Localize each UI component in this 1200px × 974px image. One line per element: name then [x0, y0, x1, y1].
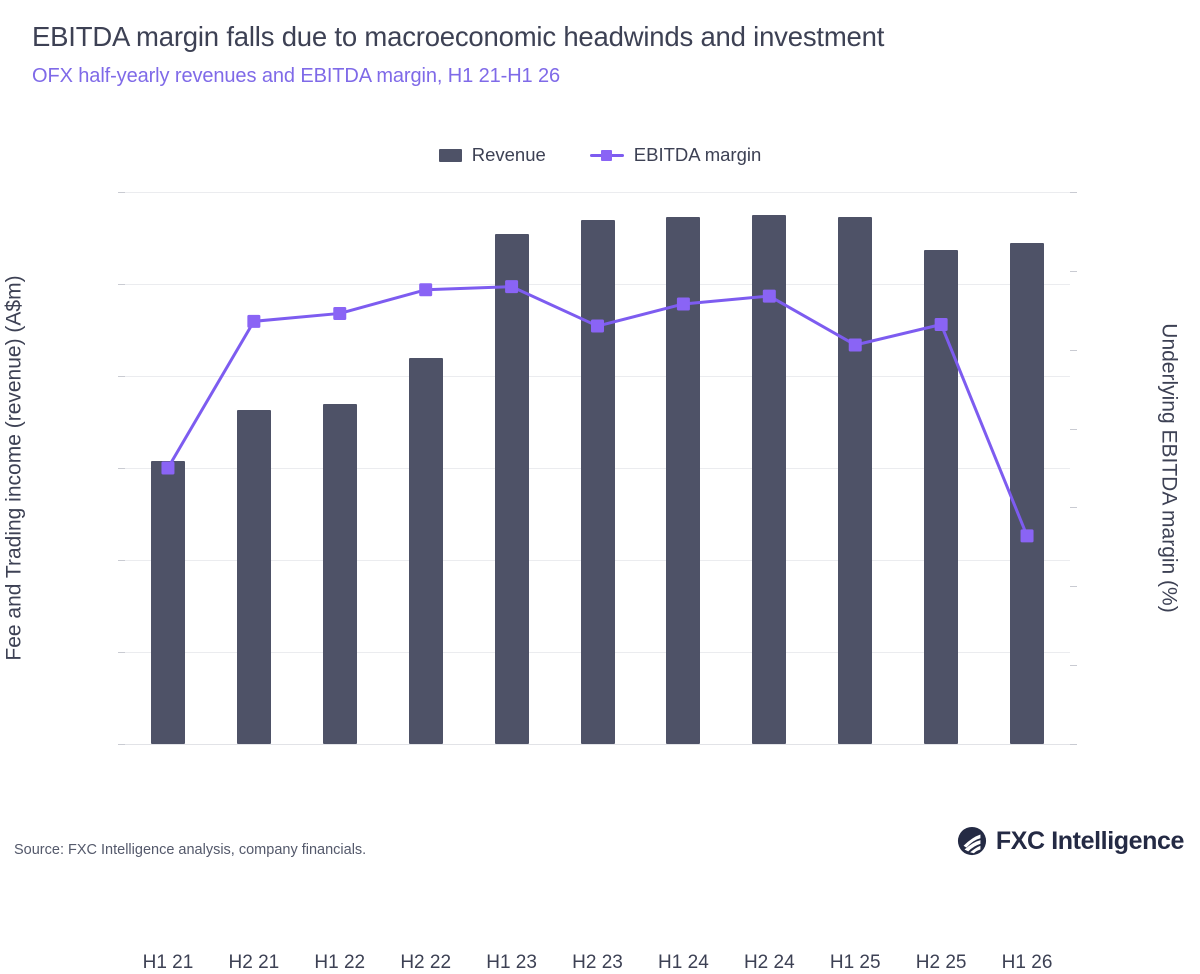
line-series-ebitda-margin: H1 21: 17.5%H2 21: 26.8%H1 22: 27.3%H2 2… [125, 192, 1070, 744]
x-tick-label: H1 25 [830, 952, 881, 974]
chart-legend: RevenueEBITDA margin [0, 144, 1200, 166]
right-tick-mark [1070, 192, 1077, 193]
legend-item-label: Revenue [472, 144, 546, 166]
legend-line-marker-icon [590, 148, 624, 162]
x-tick-label: H2 25 [916, 952, 967, 974]
source-note: Source: FXC Intelligence analysis, compa… [14, 842, 366, 858]
right-axis-title-text: Underlying EBITDA margin (%) [1157, 323, 1181, 612]
x-tick-label: H2 22 [400, 952, 451, 974]
right-tick-mark [1070, 665, 1077, 666]
margin-marker-h2-25[interactable]: H2 25: 26.6% [935, 318, 948, 331]
left-tick-mark [118, 468, 125, 469]
margin-marker-h2-23[interactable]: H2 23: 26.5% [591, 320, 604, 333]
left-tick-mark [118, 284, 125, 285]
fxc-swirl-logo-icon [957, 826, 987, 856]
left-tick-mark [118, 376, 125, 377]
legend-item-revenue[interactable]: Revenue [439, 144, 546, 166]
left-tick-mark [118, 652, 125, 653]
left-tick-mark [118, 744, 125, 745]
brand-logo: FXC Intelligence [957, 826, 1184, 856]
chart-subtitle: OFX half-yearly revenues and EBITDA marg… [32, 65, 1172, 88]
margin-marker-h2-21[interactable]: H2 21: 26.8% [247, 315, 260, 328]
legend-square-icon [439, 149, 462, 162]
right-axis-title: Underlying EBITDA margin (%) [1152, 192, 1186, 744]
page-title: EBITDA margin falls due to macroeconomic… [32, 22, 1172, 53]
x-tick-label: H1 21 [143, 952, 194, 974]
x-tick-label: H1 26 [1002, 952, 1053, 974]
chart-header: EBITDA margin falls due to macroeconomic… [32, 22, 1172, 88]
legend-item-label: EBITDA margin [634, 144, 762, 166]
x-tick-label: H2 24 [744, 952, 795, 974]
margin-marker-h2-24[interactable]: H2 24: 28.4% [763, 290, 776, 303]
margin-marker-h1-23[interactable]: H1 23: 29% [505, 280, 518, 293]
gridline [125, 744, 1070, 745]
margin-marker-h1-26[interactable]: H1 26: 13.2% [1021, 529, 1034, 542]
x-tick-label: H1 22 [314, 952, 365, 974]
right-tick-mark [1070, 429, 1077, 430]
margin-marker-h1-25[interactable]: H1 25: 25.3% [849, 338, 862, 351]
right-tick-mark [1070, 507, 1077, 508]
margin-marker-h1-24[interactable]: H1 24: 27.9% [677, 297, 690, 310]
legend-item-ebitda-margin[interactable]: EBITDA margin [590, 144, 762, 166]
left-axis-title: Fee and Trading income (revenue) (A$m) [0, 192, 32, 744]
right-tick-mark [1070, 271, 1077, 272]
margin-marker-h2-22[interactable]: H2 22: 28.8% [419, 283, 432, 296]
right-tick-mark [1070, 744, 1077, 745]
margin-marker-h1-22[interactable]: H1 22: 27.3% [333, 307, 346, 320]
left-axis-title-text: Fee and Trading income (revenue) (A$m) [3, 275, 27, 660]
x-tick-label: H1 23 [486, 952, 537, 974]
brand-name: FXC Intelligence [996, 827, 1184, 856]
x-tick-label: H1 24 [658, 952, 709, 974]
x-tick-label: H2 21 [229, 952, 280, 974]
left-tick-mark [118, 560, 125, 561]
x-tick-label: H2 23 [572, 952, 623, 974]
left-tick-mark [118, 192, 125, 193]
right-tick-mark [1070, 586, 1077, 587]
right-tick-mark [1070, 350, 1077, 351]
plot-area: 020406080100120 0%5%10%15%20%25%30%35% H… [125, 192, 1070, 744]
margin-marker-h1-21[interactable]: H1 21: 17.5% [161, 462, 174, 475]
